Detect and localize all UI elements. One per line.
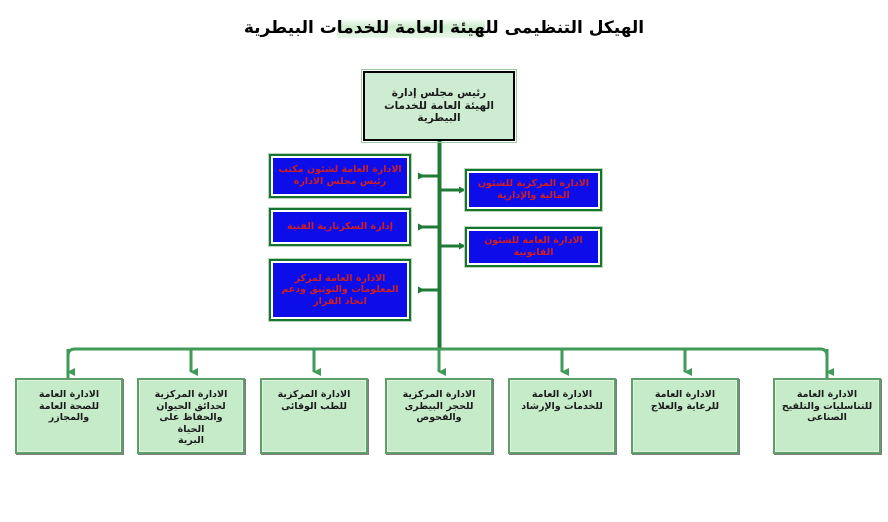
- node-chairman-label: رئيس مجلس إدارة الهيئة العامة للخدمات ال…: [384, 87, 494, 125]
- node-division-7[interactable]: الادارة العامة للتناسليات والتلقيح الصنا…: [773, 378, 881, 454]
- node-chairman[interactable]: رئيس مجلس إدارة الهيئة العامة للخدمات ال…: [363, 71, 515, 141]
- node-staff-left-3-label: الادارة العامة لمركز المعلومات والتوثيق …: [276, 273, 404, 308]
- node-division-6-label: الادارة العامة للرعاية والعلاج: [639, 385, 731, 412]
- title-segment-end: ت البيطرية: [244, 18, 337, 38]
- node-division-5[interactable]: الادارة العامة للخدمات والإرشاد: [508, 378, 616, 454]
- node-staff-left-2[interactable]: إدارة السكرتارية الفنية: [269, 208, 411, 246]
- division-bus: [68, 349, 827, 379]
- node-staff-right-1[interactable]: الادارة المركزية للشئون المالية والإداري…: [465, 169, 602, 211]
- node-division-3[interactable]: الادارة المركزية للطب الوقائى: [260, 378, 368, 454]
- title-segment-start: الهيكل التنظيمى لل: [485, 18, 644, 38]
- page-title: الهيكل التنظيمى للهيئة العامة للخدمات ال…: [0, 18, 888, 38]
- node-division-1-label: الادارة العامة للصحة العامة والمجازر: [23, 385, 115, 424]
- node-staff-left-1-label: الادارة العامة لشئون مكتب رئيس مجلس الاد…: [276, 164, 404, 187]
- node-division-4-label: الادارة المركزية للحجر البيطرى والفحوص: [393, 385, 485, 424]
- node-division-6[interactable]: الادارة العامة للرعاية والعلاج: [631, 378, 739, 454]
- node-staff-right-2-label: الادارة العامة للشئون القانونية: [472, 235, 595, 258]
- node-staff-left-3[interactable]: الادارة العامة لمركز المعلومات والتوثيق …: [269, 259, 411, 321]
- node-staff-left-1[interactable]: الادارة العامة لشئون مكتب رئيس مجلس الاد…: [269, 154, 411, 198]
- node-staff-left-2-label: إدارة السكرتارية الفنية: [276, 221, 404, 233]
- node-division-2[interactable]: الادارة المركزية لحدائق الحيوان والحفاظ …: [137, 378, 245, 454]
- node-division-3-label: الادارة المركزية للطب الوقائى: [268, 385, 360, 412]
- node-division-1[interactable]: الادارة العامة للصحة العامة والمجازر: [15, 378, 123, 454]
- node-staff-right-2[interactable]: الادارة العامة للشئون القانونية: [465, 227, 602, 267]
- title-segment-highlight: هيئة العامة للخدما: [337, 18, 486, 38]
- node-staff-right-1-label: الادارة المركزية للشئون المالية والإداري…: [472, 178, 595, 201]
- org-chart-canvas: الهيكل التنظيمى للهيئة العامة للخدمات ال…: [0, 0, 888, 522]
- node-division-7-label: الادارة العامة للتناسليات والتلقيح الصنا…: [781, 385, 873, 424]
- node-division-2-label: الادارة المركزية لحدائق الحيوان والحفاظ …: [145, 385, 237, 447]
- node-division-4[interactable]: الادارة المركزية للحجر البيطرى والفحوص: [385, 378, 493, 454]
- node-division-5-label: الادارة العامة للخدمات والإرشاد: [516, 385, 608, 412]
